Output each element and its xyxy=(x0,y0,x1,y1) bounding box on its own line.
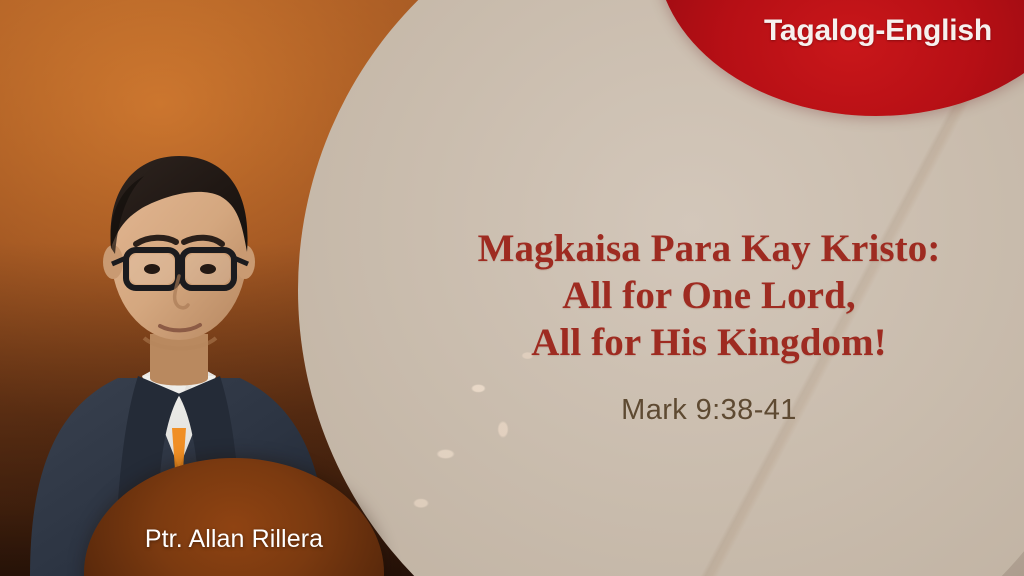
sermon-title-slide: Tagalog-English xyxy=(0,0,1024,576)
speaker-name-label: Ptr. Allan Rillera xyxy=(84,525,384,554)
sermon-title-line-3: All for His Kingdom! xyxy=(418,320,1000,367)
sermon-title: Magkaisa Para Kay Kristo: All for One Lo… xyxy=(418,226,1000,366)
scripture-reference: Mark 9:38-41 xyxy=(418,394,1000,427)
sermon-title-line-2: All for One Lord, xyxy=(418,273,1000,320)
sermon-text-block: Magkaisa Para Kay Kristo: All for One Lo… xyxy=(418,226,1000,427)
language-badge-label: Tagalog-English xyxy=(744,14,1012,48)
sermon-title-line-1: Magkaisa Para Kay Kristo: xyxy=(418,226,1000,273)
